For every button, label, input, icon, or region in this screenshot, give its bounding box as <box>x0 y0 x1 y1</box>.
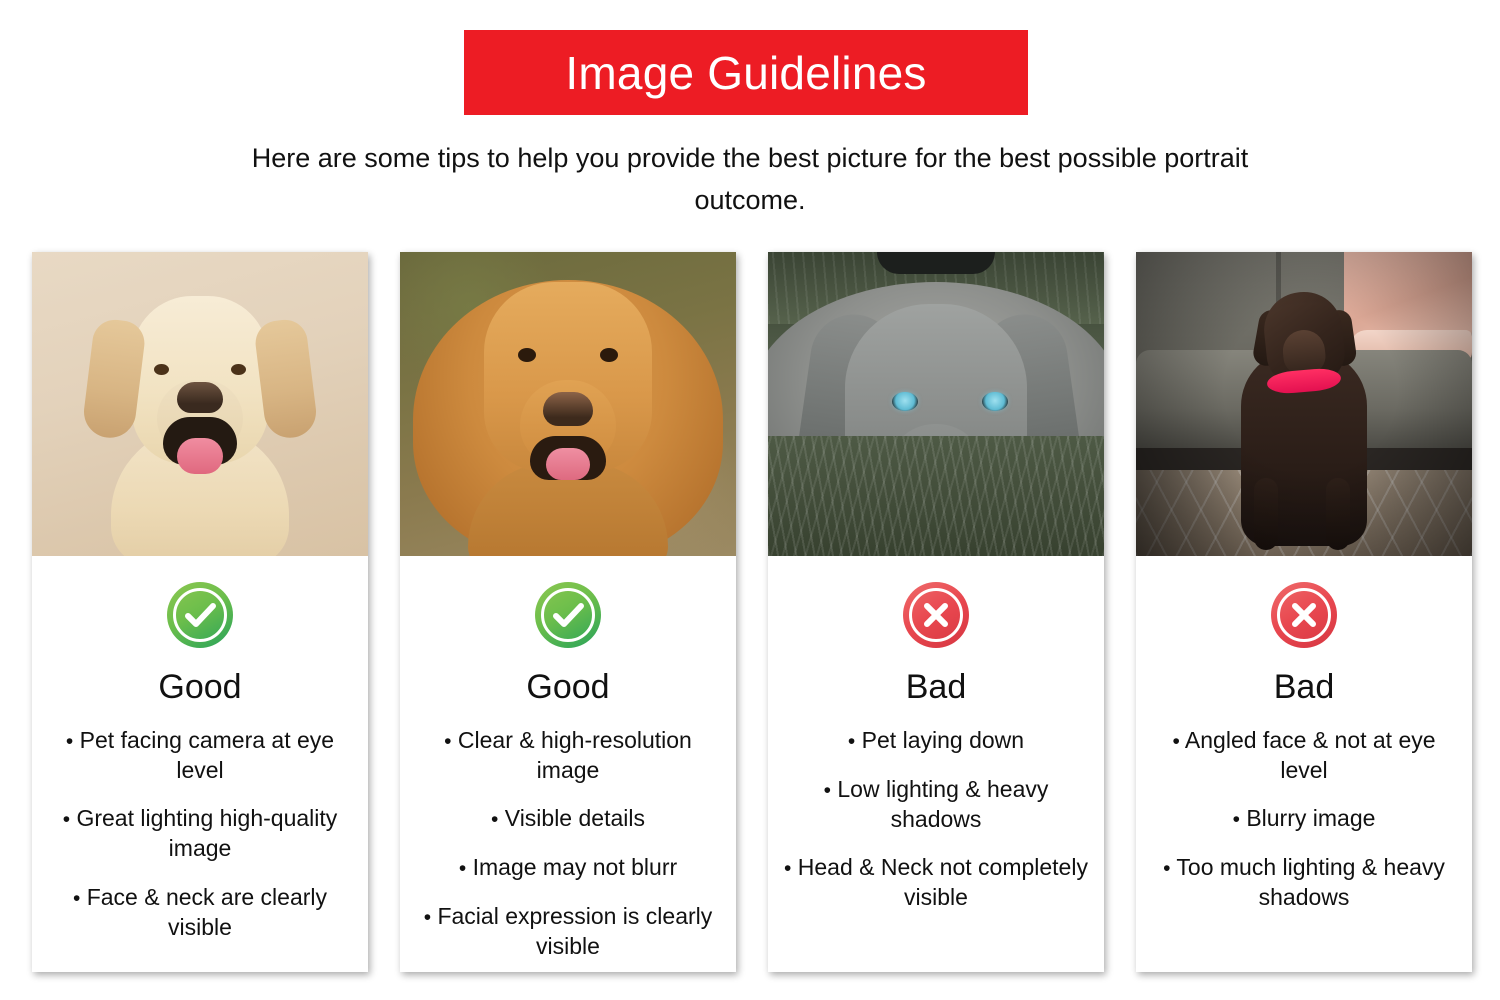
bullet-text: Visible details <box>505 805 645 831</box>
page-subtitle: Here are some tips to help you provide t… <box>250 138 1250 222</box>
bullet-marker: • <box>824 779 831 802</box>
list-item: • Angled face & not at eye level <box>1148 726 1460 785</box>
card-verdict-label: Bad <box>906 670 967 704</box>
pet-photo-chocolate-labrador <box>1136 252 1472 556</box>
guideline-card-bad-2: Bad • Angled face & not at eye level • B… <box>1136 252 1472 972</box>
bullet-marker: • <box>63 808 70 831</box>
dog-nose-shape <box>543 392 593 426</box>
dog-tongue-shape <box>177 438 223 474</box>
dog-eye-left-shape <box>154 364 169 375</box>
card-body: Good • Clear & high-resolution image • V… <box>400 556 736 972</box>
guideline-card-bad-1: Bad • Pet laying down • Low lighting & h… <box>768 252 1104 972</box>
card-bullet-list: • Angled face & not at eye level • Blurr… <box>1136 726 1472 932</box>
card-bullet-list: • Pet laying down • Low lighting & heavy… <box>768 726 1104 932</box>
list-item: • Too much lighting & heavy shadows <box>1148 853 1460 912</box>
bullet-marker: • <box>1233 808 1240 831</box>
bullet-text: Pet facing camera at eye level <box>80 727 334 783</box>
card-body: Bad • Pet laying down • Low lighting & h… <box>768 556 1104 972</box>
list-item: • Image may not blurr <box>459 853 677 883</box>
pet-photo-golden-retriever <box>400 252 736 556</box>
dog-eye-right-shape <box>600 348 618 362</box>
bullet-text: Image may not blurr <box>473 854 678 880</box>
bullet-marker: • <box>784 857 791 880</box>
list-item: • Face & neck are clearly visible <box>44 883 356 942</box>
bullet-text: Pet laying down <box>862 727 1024 753</box>
bullet-marker: • <box>73 887 80 910</box>
list-item: • Pet facing camera at eye level <box>44 726 356 785</box>
list-item: • Blurry image <box>1233 804 1376 834</box>
card-bullet-list: • Pet facing camera at eye level • Great… <box>32 726 368 961</box>
dog-eye-left-shape <box>892 392 918 411</box>
grass-foreground <box>768 436 1104 556</box>
list-item: • Great lighting high-quality image <box>44 804 356 863</box>
dog-eye-right-shape <box>231 364 246 375</box>
x-glyph <box>1271 582 1337 648</box>
dog-collar-shape <box>877 252 995 274</box>
bullet-text: Facial expression is clearly visible <box>437 903 712 959</box>
bullet-text: Head & Neck not completely visible <box>798 854 1088 910</box>
x-glyph <box>903 582 969 648</box>
guideline-card-good-1: Good • Pet facing camera at eye level • … <box>32 252 368 972</box>
bullet-marker: • <box>1163 857 1170 880</box>
pet-photo-yellow-labrador <box>32 252 368 556</box>
page-title-banner: Image Guidelines <box>464 30 1028 115</box>
bullet-text: Low lighting & heavy shadows <box>837 776 1048 832</box>
x-circle-icon <box>903 582 969 648</box>
guideline-card-list: Good • Pet facing camera at eye level • … <box>32 252 1472 974</box>
bullet-marker: • <box>444 730 451 753</box>
bullet-marker: • <box>491 808 498 831</box>
dog-eye-left-shape <box>518 348 536 362</box>
bullet-marker: • <box>1172 730 1179 753</box>
check-circle-icon <box>167 582 233 648</box>
list-item: • Clear & high-resolution image <box>412 726 724 785</box>
photo-vignette-overlay <box>1136 252 1472 556</box>
bullet-marker: • <box>424 906 431 929</box>
check-glyph <box>535 582 601 648</box>
bullet-marker: • <box>848 730 855 753</box>
list-item: • Visible details <box>491 804 645 834</box>
dog-tongue-shape <box>546 448 590 480</box>
bullet-text: Face & neck are clearly visible <box>87 884 327 940</box>
guideline-card-good-2: Good • Clear & high-resolution image • V… <box>400 252 736 972</box>
card-bullet-list: • Clear & high-resolution image • Visibl… <box>400 726 736 972</box>
list-item: • Pet laying down <box>848 726 1024 756</box>
page-title: Image Guidelines <box>565 50 926 96</box>
pet-photo-grey-dog-in-grass <box>768 252 1104 556</box>
card-body: Bad • Angled face & not at eye level • B… <box>1136 556 1472 972</box>
bullet-text: Clear & high-resolution image <box>458 727 692 783</box>
bullet-text: Blurry image <box>1246 805 1375 831</box>
dog-eye-right-shape <box>982 392 1008 411</box>
check-circle-icon <box>535 582 601 648</box>
bullet-marker: • <box>459 857 466 880</box>
bullet-marker: • <box>66 730 73 753</box>
dog-nose-shape <box>177 382 223 413</box>
check-glyph <box>167 582 233 648</box>
list-item: • Low lighting & heavy shadows <box>780 775 1092 834</box>
list-item: • Head & Neck not completely visible <box>780 853 1092 912</box>
bullet-text: Too much lighting & heavy shadows <box>1176 854 1445 910</box>
bullet-text: Great lighting high-quality image <box>76 805 337 861</box>
card-verdict-label: Bad <box>1274 670 1335 704</box>
card-body: Good • Pet facing camera at eye level • … <box>32 556 368 972</box>
bullet-text: Angled face & not at eye level <box>1185 727 1436 783</box>
list-item: • Facial expression is clearly visible <box>412 902 724 961</box>
card-verdict-label: Good <box>158 670 241 704</box>
card-verdict-label: Good <box>526 670 609 704</box>
x-circle-icon <box>1271 582 1337 648</box>
